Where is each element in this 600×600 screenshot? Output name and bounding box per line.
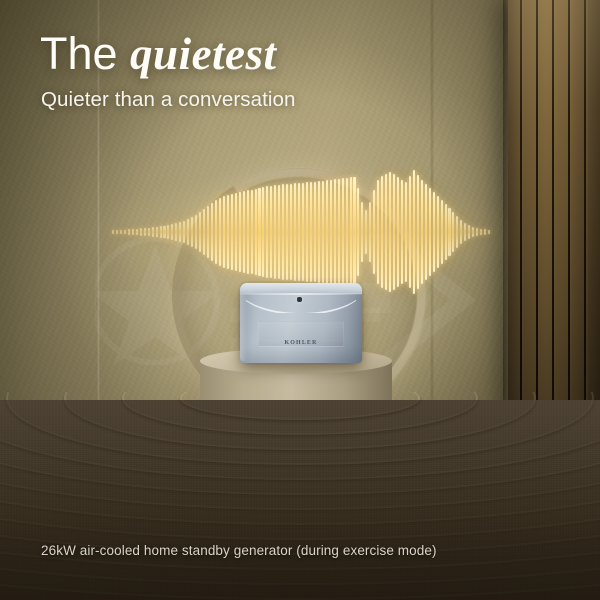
headline-regular: The: [40, 28, 130, 79]
sand-vignette: [0, 400, 600, 600]
product-caption: 26kW air-cooled home standby generator (…: [41, 543, 437, 558]
subheadline: Quieter than a conversation: [41, 88, 296, 112]
advertisement-scene: KOHLER The quietest Quieter than a conve…: [0, 0, 600, 600]
headline-emphasis: quietest: [130, 29, 277, 79]
standby-generator-unit: KOHLER: [240, 283, 362, 363]
status-indicator-light: [297, 297, 302, 302]
kohler-brand-logo: KOHLER: [240, 340, 362, 346]
wood-slat-wall: [508, 0, 600, 424]
waveform-ambient-glow: [90, 175, 510, 293]
slat-sheen: [508, 0, 600, 424]
headline: The quietest: [40, 31, 277, 77]
